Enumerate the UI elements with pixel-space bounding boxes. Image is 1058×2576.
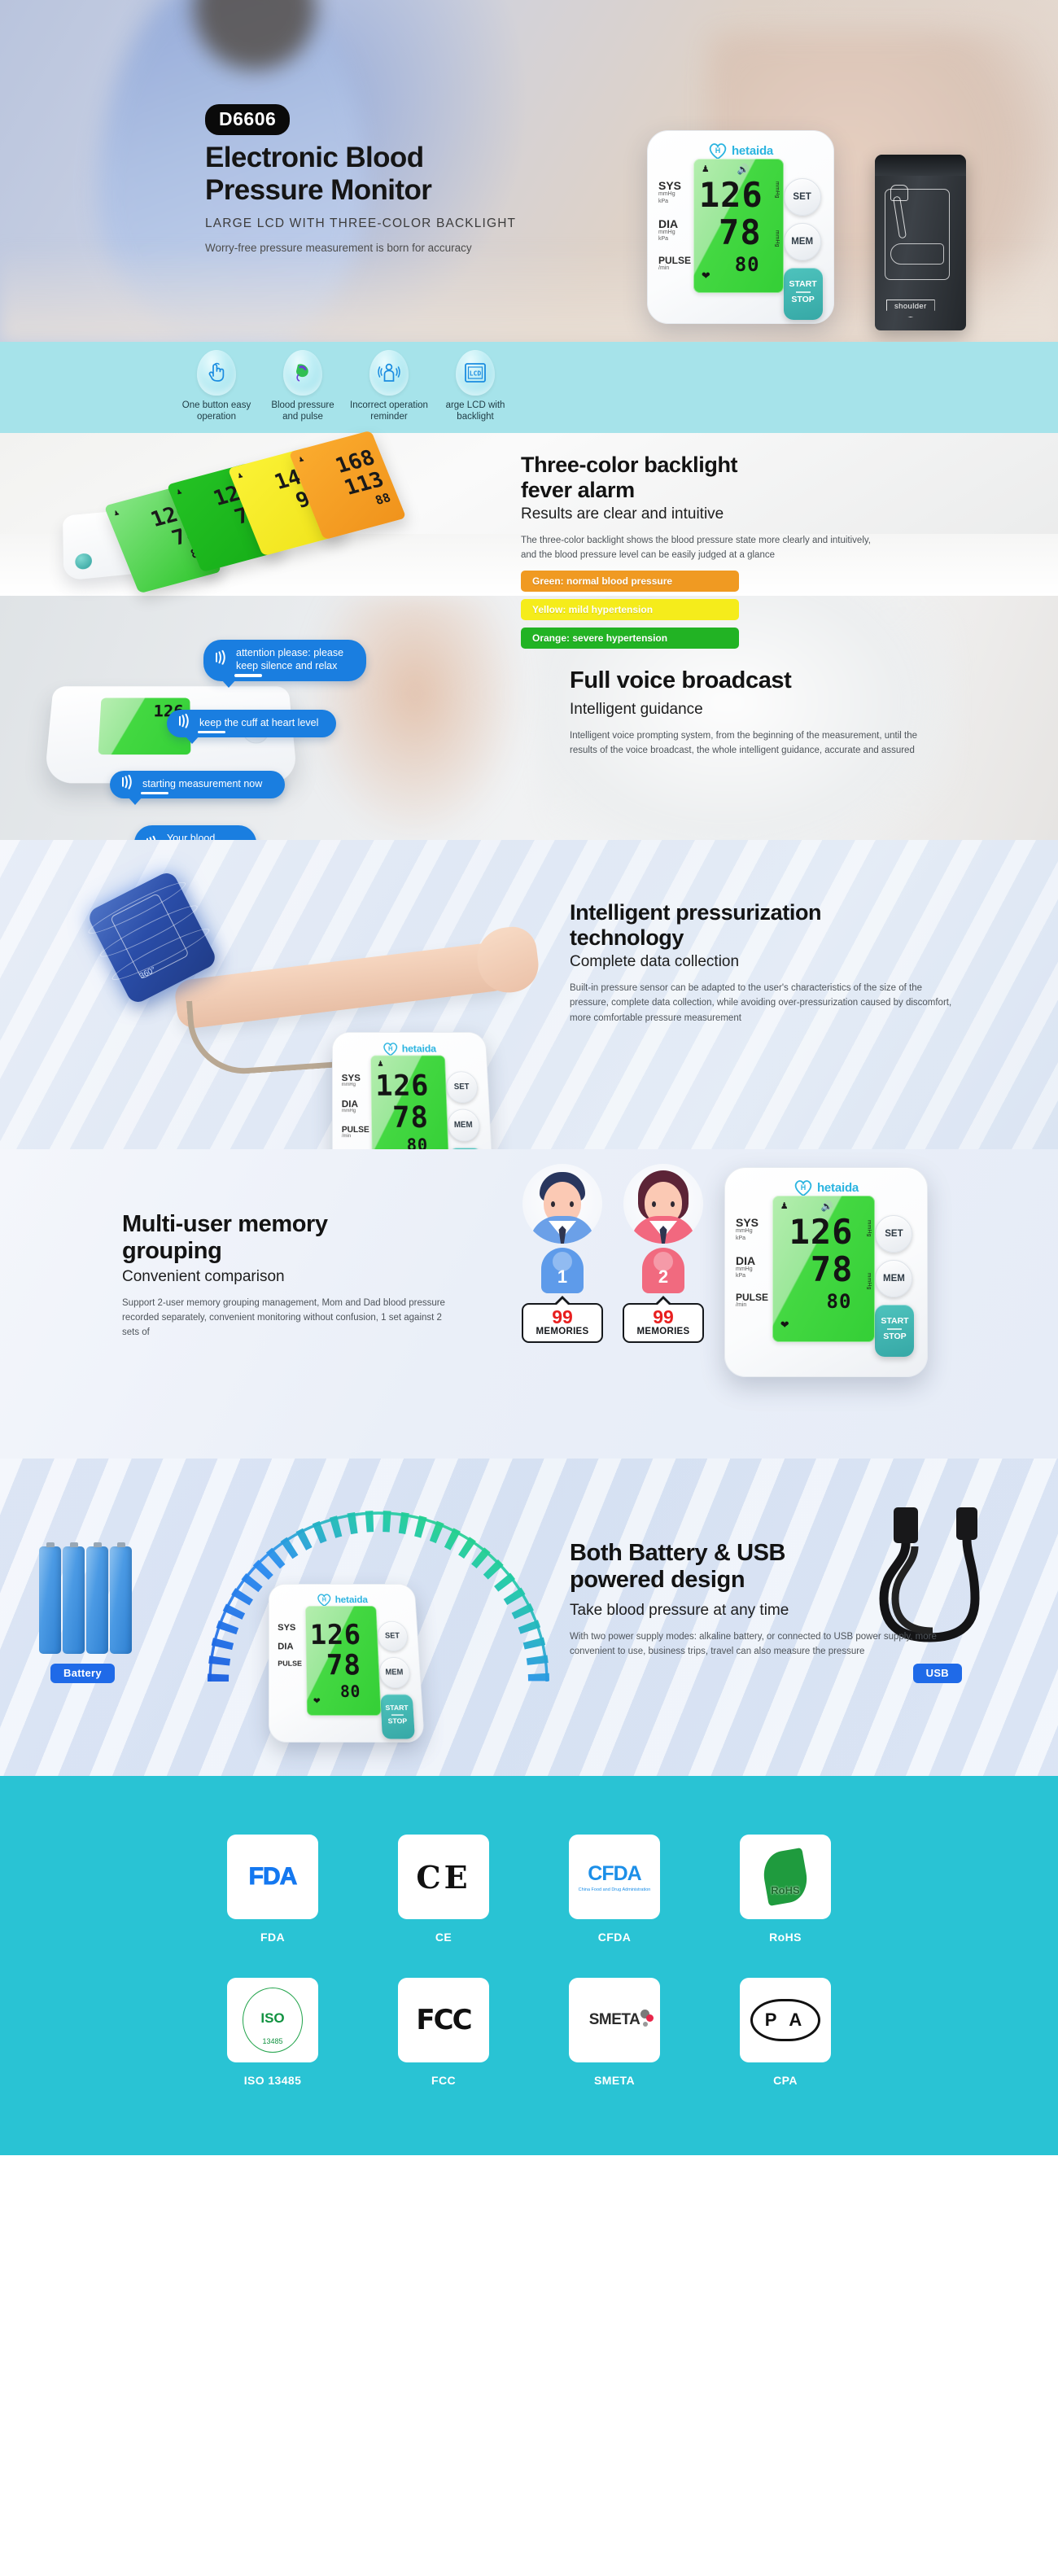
avatar-eye-right — [671, 1201, 675, 1207]
battery-cell — [63, 1546, 85, 1654]
cert-name: CFDA — [562, 1931, 667, 1944]
pa-icon: P A — [750, 1999, 820, 2041]
sys-label: SYS — [278, 1622, 305, 1631]
mem-button[interactable]: MEM — [378, 1657, 410, 1688]
feature-label: Incorrect operation reminder — [350, 400, 428, 423]
cert-logo-card: FDA — [227, 1835, 318, 1919]
cert-name: RoHS — [732, 1931, 838, 1944]
start-stop-button[interactable]: START STOP — [380, 1695, 415, 1739]
cert-fda: FDA FDA — [220, 1835, 326, 1944]
cert-smeta: SMETA SMETA — [562, 1978, 667, 2087]
section-subtitle: Take blood pressure at any time — [570, 1602, 1025, 1620]
section-title: Both Battery & USB powered design — [570, 1540, 1025, 1594]
cert-logo-card: CE — [398, 1835, 489, 1919]
dia-label: DIA — [658, 218, 693, 230]
lcd-area: SYS DIA PULSE 126 78 80 ❤ — [269, 1606, 424, 1738]
user-icon: ♟ — [377, 1060, 383, 1069]
dia-unit-mmhg: mmHg — [736, 1266, 772, 1274]
section-title: Intelligent pressurization technology — [570, 900, 1025, 950]
memory-grouping-section: Multi-user memory grouping Convenient co… — [0, 1149, 1058, 1459]
feature-one-button: One button easy operation — [177, 350, 256, 423]
rohs-mark: RoHS — [756, 1884, 815, 1896]
heart-logo-icon: H — [383, 1042, 399, 1056]
pulse-label: PULSE — [342, 1125, 371, 1133]
arm-cuff-product: shoulder — [875, 155, 966, 330]
cfda-subtitle: China Food and Drug Administration — [579, 1887, 651, 1892]
hand-tap-icon — [197, 350, 236, 396]
section-body: Intelligent voice prompting system, from… — [570, 728, 944, 759]
iso-number: 13485 — [243, 2037, 303, 2045]
usb-label-chip: USB — [913, 1664, 962, 1683]
voice-bubble-4: Your blood pressure is .... — [134, 825, 256, 840]
brand-logo: H hetaida — [269, 1585, 416, 1606]
cert-cpa: P A CPA — [732, 1978, 838, 2087]
voice-bubble-1: attention please: please keep silence an… — [203, 640, 366, 681]
user-number: 1 — [557, 1266, 567, 1288]
cert-logo-card: P A — [740, 1978, 831, 2062]
set-button[interactable]: SET — [445, 1071, 478, 1103]
lcd-screen: ♟ 126 78 80 ❤ — [370, 1056, 449, 1149]
dia-unit-kpa: kPa — [658, 236, 693, 243]
brand-name: hetaida — [334, 1594, 368, 1605]
pulse-label-group: PULSE /min — [342, 1125, 371, 1139]
pulse-unit: /min — [342, 1133, 371, 1139]
pulse-label: PULSE — [278, 1660, 306, 1668]
pill-green: Green: normal blood pressure — [521, 571, 739, 592]
dia-reading: 78 — [778, 1253, 870, 1287]
cert-iso: ISO 13485 ISO 13485 — [220, 1978, 326, 2087]
stop-label: STOP — [381, 1718, 413, 1725]
feature-items: One button easy operation Blood pressure… — [0, 342, 1058, 423]
title-line-2: fever alarm — [521, 478, 1009, 503]
heartbeat-icon: ❤ — [702, 269, 710, 282]
smeta-mark: SMETA — [589, 2011, 640, 2028]
sys-label: SYS — [736, 1217, 772, 1228]
heart-logo-icon: H — [793, 1179, 813, 1196]
memory-copy: Multi-user memory grouping Convenient co… — [122, 1211, 513, 1340]
user-icon: ♟ — [112, 509, 120, 518]
pulse-label: PULSE — [658, 256, 693, 265]
cert-logo-card: ISO 13485 — [227, 1978, 318, 2062]
feature-label: Blood pressure and pulse — [264, 400, 342, 423]
lcd-side-labels: SYS DIA PULSE — [278, 1606, 307, 1738]
brand-logo: H hetaida — [725, 1168, 927, 1196]
brand-name: hetaida — [732, 144, 773, 158]
feature-icon-strip: One button easy operation Blood pressure… — [0, 342, 1058, 433]
bubble-underline — [198, 731, 225, 734]
voice-background-neck — [309, 596, 521, 840]
pulse-reading: 80 — [699, 255, 778, 274]
section-subtitle: Convenient comparison — [122, 1268, 513, 1286]
device-buttons: SET MEM START STOP — [875, 1196, 916, 1357]
dia-label-group: DIA mmHg kPa — [736, 1255, 772, 1281]
cert-name: CE — [391, 1931, 496, 1944]
avatar — [623, 1164, 703, 1244]
pulse-unit: /min — [658, 265, 693, 273]
section-subtitle: Intelligent guidance — [570, 701, 1009, 719]
brand-logo: H hetaida — [648, 131, 833, 159]
cuff-shoulder-label: shoulder — [886, 300, 935, 317]
avatar-eye-right — [570, 1201, 574, 1207]
avatar-eye-left — [652, 1201, 656, 1207]
feature-label-line-1: Blood pressure — [264, 400, 342, 411]
dia-label-group: DIA mmHg kPa — [658, 218, 693, 244]
dia-unit-overlay: mmHg — [866, 1273, 872, 1290]
section-title: Full voice broadcast — [570, 667, 1009, 694]
battery-pack-illustration — [39, 1546, 132, 1654]
section-subtitle: Results are clear and intuitive — [521, 505, 1009, 523]
user-icon: ♟ — [236, 471, 244, 481]
fcc-icon: FCC — [416, 2004, 470, 2036]
feature-label: One button easy operation — [177, 400, 256, 423]
dia-reading: 78 — [376, 1103, 444, 1132]
feature-label-line-1: Incorrect operation — [350, 400, 428, 411]
memory-section-device: H hetaida SYS mmHg kPa DIA mmHg — [724, 1167, 928, 1377]
bubble-underline — [234, 674, 262, 677]
sys-unit-mmhg: mmHg — [658, 191, 693, 199]
model-badge: D6606 — [205, 104, 290, 135]
hero-copy: D6606 Electronic Blood Pressure Monitor … — [205, 104, 588, 254]
battery-cell — [86, 1546, 108, 1654]
speaker-icon: 🔊 — [821, 1201, 833, 1212]
dia-unit-kpa: kPa — [736, 1273, 772, 1280]
power-copy: Both Battery & USB powered design Take b… — [570, 1540, 1025, 1659]
cert-logo-card: CFDA China Food and Drug Administration — [569, 1835, 660, 1919]
cert-fcc: FCC FCC — [391, 1978, 496, 2087]
arm-outline-icon — [893, 196, 907, 239]
svg-text:H: H — [322, 1597, 326, 1603]
dia-unit-overlay: mmHg — [775, 230, 780, 247]
sys-unit-overlay: mmHg — [775, 182, 780, 199]
heartbeat-icon: ❤ — [780, 1319, 789, 1332]
title-line-1: Intelligent pressurization — [570, 900, 1025, 925]
title-line-2: powered design — [570, 1567, 1025, 1594]
user-number-badge: 2 — [642, 1248, 684, 1293]
feature-label-line-2: operation — [177, 411, 256, 422]
svg-text:H: H — [715, 147, 721, 155]
sound-wave-icon — [120, 775, 134, 793]
blood-pressure-monitor: H hetaida SYS DIA PULSE — [269, 1584, 425, 1743]
cert-cfda: CFDA China Food and Drug Administration … — [562, 1835, 667, 1944]
feature-bp-pulse: Blood pressure and pulse — [264, 350, 342, 423]
brand-name: hetaida — [402, 1043, 437, 1054]
stop-label: STOP — [875, 1332, 914, 1341]
smeta-dot-red — [646, 2014, 654, 2022]
bubble-underline — [141, 792, 168, 795]
pulse-label: PULSE — [736, 1292, 772, 1302]
dia-label: DIA — [736, 1255, 772, 1266]
battery-label-chip: Battery — [50, 1664, 115, 1683]
pulse-reading: 80 — [311, 1683, 376, 1699]
body-outline-icon — [890, 243, 944, 265]
feature-label-line-2: and pulse — [264, 411, 342, 422]
certification-row-2: ISO 13485 ISO 13485 FCC FCC SMETA — [0, 1978, 1058, 2087]
memories-badge: 99 MEMORIES — [623, 1303, 704, 1343]
leaf-icon — [760, 1848, 811, 1906]
speaker-icon: 🔊 — [737, 164, 750, 175]
sys-unit-kpa: kPa — [658, 199, 693, 206]
fist-illustration — [474, 924, 541, 995]
cfda-mark: CFDA — [579, 1862, 651, 1886]
user-number-badge: 1 — [541, 1248, 584, 1293]
cuff-pulse-icon — [283, 350, 322, 396]
iso-mark: ISO — [243, 2010, 303, 2027]
brand-logo: H hetaida — [333, 1033, 486, 1056]
lcd-screen-icon: LCD — [456, 350, 495, 396]
feature-label-line-2: reminder — [350, 411, 428, 422]
voice-bubble-3: starting measurement now — [110, 771, 285, 798]
button-divider — [796, 291, 811, 293]
feature-incorrect-reminder: Incorrect operation reminder — [350, 350, 428, 423]
sound-wave-icon — [177, 714, 191, 732]
voice-bubble-text: attention please: please keep silence an… — [236, 647, 343, 671]
sys-reading: 126 — [375, 1071, 442, 1100]
lcd-side-labels: SYS mmHg DIA mmHg PULSE /min — [342, 1056, 373, 1149]
smeta-icon: SMETA — [589, 2011, 640, 2029]
start-stop-button[interactable]: START STOP — [875, 1305, 914, 1357]
cert-name: FDA — [220, 1931, 326, 1944]
mem-button[interactable]: MEM — [447, 1109, 480, 1142]
feature-label: arge LCD with backlight — [436, 400, 514, 423]
voice-bubble-2: keep the cuff at heart level — [167, 710, 336, 737]
memories-count: 99 — [624, 1308, 702, 1327]
sys-label-group: SYS mmHg kPa — [736, 1217, 772, 1243]
backlight-pill-list: Green: normal blood pressure Yellow: mil… — [521, 571, 1009, 649]
title-line-1: Three-color backlight — [521, 453, 1009, 478]
memories-label: MEMORIES — [523, 1327, 601, 1336]
user-avatars: 1 99 MEMORIES — [518, 1164, 708, 1343]
pressurization-device: H hetaida SYS mmHg DIA mmHg — [332, 1032, 519, 1149]
section-body: With two power supply modes: alkaline ba… — [570, 1629, 952, 1660]
button-divider — [887, 1328, 902, 1330]
dia-unit-mmhg: mmHg — [342, 1109, 371, 1114]
sys-reading: 126 — [310, 1621, 374, 1649]
power-section-device: H hetaida SYS DIA PULSE — [269, 1584, 456, 1776]
sys-unit-mmhg: mmHg — [342, 1082, 371, 1088]
lcd-color-cards-illustration: ♟ 126 78 80 ♟ 126 78 80 ♟ 148 98 80 ♟ 16… — [0, 433, 521, 596]
hero-title-line-2: Pressure Monitor — [205, 174, 588, 207]
cert-ce: CE CE — [391, 1835, 496, 1944]
cert-name: ISO 13485 — [220, 2074, 326, 2087]
product-detail-page: D6606 Electronic Blood Pressure Monitor … — [0, 0, 1058, 2155]
cfda-icon: CFDA China Food and Drug Administration — [579, 1862, 651, 1892]
set-button[interactable]: SET — [875, 1215, 912, 1253]
voice-bubble-text: starting measurement now — [142, 778, 262, 789]
dia-reading: 78 — [699, 216, 778, 250]
blood-pressure-monitor: H hetaida SYS mmHg DIA mmHg — [332, 1032, 494, 1149]
cert-rohs: RoHS RoHS — [732, 1835, 838, 1944]
user-icon: ♟ — [780, 1201, 789, 1211]
blood-pressure-monitor: H hetaida SYS mmHg kPa DIA mmHg — [724, 1167, 928, 1377]
voice-copy: Full voice broadcast Intelligent guidanc… — [570, 667, 1009, 759]
device-buttons: SET MEM START STOP — [784, 159, 823, 320]
sys-label: SYS — [342, 1073, 371, 1082]
sys-unit-kpa: kPa — [736, 1236, 772, 1243]
start-stop-button[interactable]: START STOP — [784, 268, 823, 320]
user-2-column: 2 99 MEMORIES — [619, 1164, 708, 1343]
section-body: Support 2-user memory grouping managemen… — [122, 1296, 448, 1340]
heart-logo-icon: H — [708, 142, 728, 160]
person-alert-icon — [369, 350, 409, 396]
lcd-screen: ♟ 🔊 126 mmHg 78 mmHg 80 ❤ — [693, 159, 784, 293]
memories-count: 99 — [523, 1308, 601, 1327]
device-buttons: SET MEM START STOP — [445, 1056, 484, 1149]
sys-label-group: SYS — [278, 1622, 305, 1631]
dia-label: DIA — [278, 1642, 305, 1651]
sys-label-group: SYS mmHg — [342, 1073, 371, 1088]
memories-label: MEMORIES — [624, 1327, 702, 1336]
pressurization-section: 360° H hetaida SYS mmHg — [0, 840, 1058, 1149]
sys-unit-overlay: mmHg — [866, 1220, 872, 1237]
dia-label: DIA — [342, 1099, 371, 1109]
device-buttons: SET MEM START STOP — [376, 1606, 415, 1738]
start-label: START — [381, 1704, 413, 1712]
dia-reading: 78 — [310, 1651, 374, 1679]
hero-title-line-1: Electronic Blood — [205, 142, 588, 174]
cuff-instruction-diagram — [885, 189, 950, 280]
title-line-1: Multi-user memory — [122, 1211, 513, 1238]
ce-icon: CE — [416, 1859, 470, 1896]
button-divider — [391, 1714, 404, 1716]
pulse-reading: 80 — [376, 1136, 444, 1149]
sys-unit-mmhg: mmHg — [736, 1228, 772, 1236]
cert-logo-card: FCC — [398, 1978, 489, 2062]
title-line-2: grouping — [122, 1238, 513, 1265]
heartbeat-icon: ❤ — [313, 1695, 321, 1707]
sys-reading: 126 — [778, 1215, 870, 1249]
section-title: Three-color backlight fever alarm — [521, 453, 1009, 502]
power-section: Battery — [0, 1459, 1058, 1776]
user-number: 2 — [658, 1266, 668, 1288]
title-line-2: technology — [570, 925, 1025, 951]
rohs-icon: RoHS — [756, 1848, 815, 1906]
section-subtitle: Complete data collection — [570, 953, 1025, 971]
cert-name: CPA — [732, 2074, 838, 2087]
lcd-area: SYS mmHg kPa DIA mmHg kPa PULSE /min — [725, 1196, 927, 1357]
stop-label: STOP — [784, 295, 823, 304]
dia-label-group: DIA mmHg — [342, 1099, 371, 1114]
user-icon: ♟ — [702, 164, 710, 174]
iso-icon: ISO 13485 — [243, 1988, 303, 2053]
pulse-label-group: PULSE — [278, 1660, 306, 1668]
page-title: Electronic Blood Pressure Monitor — [205, 142, 588, 206]
section-body: The three-color backlight shows the bloo… — [521, 533, 871, 563]
certification-row-1: FDA FDA CE CE CFDA China Food and Drug A… — [0, 1835, 1058, 1944]
pill-yellow: Yellow: mild hypertension — [521, 599, 739, 620]
lcd-area: SYS mmHg kPa DIA mmHg kPa PULSE /min — [648, 159, 833, 320]
hero-tagline: Worry-free pressure measurement is born … — [205, 242, 588, 254]
lcd-screen: ♟ 🔊 126 mmHg 78 mmHg 80 ❤ — [772, 1196, 876, 1342]
battery-cell — [39, 1546, 61, 1654]
user-icon: ♟ — [175, 488, 183, 497]
cert-logo-card: RoHS — [740, 1835, 831, 1919]
heart-logo-icon: H — [317, 1593, 332, 1606]
feature-label-line-1: arge LCD with — [436, 400, 514, 411]
smeta-dot-light — [643, 2022, 648, 2027]
svg-text:LCD: LCD — [470, 370, 482, 378]
lcd-area: SYS mmHg DIA mmHg PULSE /min ♟ — [333, 1056, 493, 1149]
hero-subtitle: LARGE LCD WITH THREE-COLOR BACKLIGHT — [205, 216, 588, 231]
three-color-backlight-section: ♟ 126 78 80 ♟ 126 78 80 ♟ 148 98 80 ♟ 16… — [0, 433, 1058, 596]
sound-wave-icon — [145, 836, 159, 840]
avatar — [522, 1164, 602, 1244]
sys-label-group: SYS mmHg kPa — [658, 180, 693, 206]
feature-label-line-2: backlight — [436, 411, 514, 422]
sys-reading: 126 — [699, 178, 778, 212]
lcd-screen: 126 78 80 ❤ — [305, 1606, 382, 1716]
user-icon: ♟ — [297, 455, 305, 465]
hero-section: D6606 Electronic Blood Pressure Monitor … — [0, 0, 1058, 342]
pa-mark: P A — [750, 1999, 820, 2041]
certifications-section: FDA FDA CE CE CFDA China Food and Drug A… — [0, 1776, 1058, 2155]
voice-bubble-text: keep the cuff at heart level — [199, 717, 318, 728]
cert-name: SMETA — [562, 2074, 667, 2087]
cert-name: FCC — [391, 2074, 496, 2087]
hero-device: H hetaida SYS mmHg kPa DIA mmHg — [647, 130, 834, 324]
sound-wave-icon — [214, 650, 228, 668]
pressurization-copy: Intelligent pressurization technology Co… — [570, 900, 1025, 1026]
user-1-column: 1 99 MEMORIES — [518, 1164, 607, 1343]
pulse-label-group: PULSE /min — [658, 256, 693, 273]
set-button[interactable]: SET — [377, 1621, 409, 1651]
dia-unit-mmhg: mmHg — [658, 230, 693, 237]
lcd-side-labels: SYS mmHg kPa DIA mmHg kPa PULSE /min — [658, 159, 693, 320]
memories-badge: 99 MEMORIES — [522, 1303, 603, 1343]
backlight-copy: Three-color backlight fever alarm Result… — [521, 433, 1058, 596]
svg-text:H: H — [388, 1044, 393, 1052]
dia-label-group: DIA — [278, 1642, 305, 1651]
title-line-1: Both Battery & USB — [570, 1540, 1025, 1567]
battery-cell — [110, 1546, 132, 1654]
svg-text:H: H — [801, 1183, 807, 1192]
mem-button[interactable]: MEM — [784, 223, 821, 260]
voice-bubble-text: Your blood pressure is .... — [167, 833, 231, 840]
sys-label: SYS — [658, 180, 693, 191]
feature-label-line-1: One button easy — [177, 400, 256, 411]
fda-icon: FDA — [249, 1863, 297, 1891]
device-dial-icon — [75, 553, 92, 570]
lcd-side-labels: SYS mmHg kPa DIA mmHg kPa PULSE /min — [736, 1196, 772, 1357]
mem-button[interactable]: MEM — [875, 1260, 912, 1297]
start-label: START — [875, 1317, 914, 1326]
start-label: START — [784, 280, 823, 289]
pill-orange: Orange: severe hypertension — [521, 628, 739, 649]
section-title: Multi-user memory grouping — [122, 1211, 513, 1265]
section-body: Built-in pressure sensor can be adapted … — [570, 981, 952, 1026]
set-button[interactable]: SET — [784, 178, 821, 216]
pulse-label-group: PULSE /min — [736, 1292, 772, 1310]
feature-large-lcd: LCD arge LCD with backlight — [436, 350, 514, 423]
avatar-eye-left — [551, 1201, 555, 1207]
cert-logo-card: SMETA — [569, 1978, 660, 2062]
blood-pressure-monitor: H hetaida SYS mmHg kPa DIA mmHg — [647, 130, 834, 324]
pulse-unit: /min — [736, 1302, 772, 1310]
pulse-reading: 80 — [778, 1292, 870, 1311]
brand-name: hetaida — [817, 1181, 859, 1195]
